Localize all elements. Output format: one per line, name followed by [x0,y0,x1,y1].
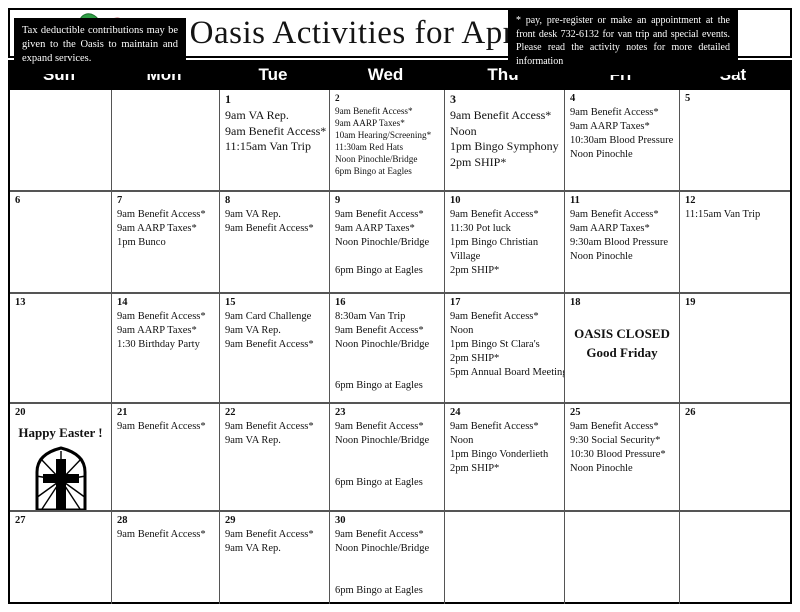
event-item: 11:30am Red Hats [335,142,439,154]
day-cell-5[interactable]: 5 [680,90,790,190]
day-cell-1[interactable]: 19am VA Rep.9am Benefit Access*11:15am V… [220,90,330,190]
day-number: 12 [685,195,785,207]
day-cell-empty [565,512,680,604]
event-item: 9am AARP Taxes* [117,324,214,338]
event-item: 9:30am Blood Pressure [570,236,674,250]
day-cell-13[interactable]: 13 [10,294,112,402]
day-number: 3 [450,93,559,107]
tax-deductible-note: Tax deductible contributions may be give… [14,18,186,74]
event-item: Noon Pinochle [570,148,674,162]
event-item: 11:15am Van Trip [225,139,324,155]
event-item: Noon [450,324,559,338]
cross-window-icon [32,446,90,510]
event-item: 8:30am Van Trip [335,310,439,324]
day-cell-21[interactable]: 219am Benefit Access* [112,404,220,510]
event-item: 9am Benefit Access* [117,420,214,434]
event-item: 9am VA Rep. [225,324,324,338]
event-item: 9am Benefit Access* [335,208,439,222]
event-item: 1pm Bingo St Clara's [450,338,559,352]
day-cell-2[interactable]: 29am Benefit Access*9am AARP Taxes*10am … [330,90,445,190]
day-number: 21 [117,407,214,419]
event-item: Noon Pinochle/Bridge [335,338,439,352]
day-cell-empty [10,90,112,190]
day-number: 5 [685,93,785,105]
event-item: 9am Benefit Access* [335,528,439,542]
event-item: 9am AARP Taxes* [117,222,214,236]
event-item: Noon Pinochle/Bridge [335,236,439,250]
day-number: 22 [225,407,324,419]
event-item: 9am VA Rep. [225,208,324,222]
day-number: 16 [335,297,439,309]
event-item: 9am Card Challenge [225,310,324,324]
event-item: 2pm SHIP* [450,155,559,171]
closure-notice-line: Good Friday [570,344,674,363]
event-item: 1pm Bingo Symphony [450,139,559,155]
event-item: 9am Benefit Access* [335,420,439,434]
day-cell-25[interactable]: 259am Benefit Access*9:30 Social Securit… [565,404,680,510]
day-cell-26[interactable]: 26 [680,404,790,510]
event-item: 1pm Bunco [117,236,214,250]
day-cell-10[interactable]: 109am Benefit Access*11:30 Pot luck1pm B… [445,192,565,292]
event-item: 9am Benefit Access* [225,338,324,352]
day-number: 1 [225,93,324,107]
day-number: 2 [335,93,439,105]
day-cell-30[interactable]: 309am Benefit Access*Noon Pinochle/Bridg… [330,512,445,604]
day-number: 30 [335,515,439,527]
event-item: 9am Benefit Access* [117,528,214,542]
event-item: 9am AARP Taxes* [570,222,674,236]
weekday-label-wed: Wed [328,60,443,90]
event-item: Noon Pinochle/Bridge [335,542,439,556]
event-item: 9am Benefit Access* [450,420,559,434]
day-number: 26 [685,407,785,419]
calendar-week-row: 679am Benefit Access*9am AARP Taxes*1pm … [10,192,790,294]
event-item: 9am Benefit Access* [225,124,324,140]
event-item: 6pm Bingo at Eagles [335,379,439,393]
closure-notice-line: OASIS CLOSED [570,325,674,344]
day-cell-23[interactable]: 239am Benefit Access*Noon Pinochle/Bridg… [330,404,445,510]
event-item: 2pm SHIP* [450,462,559,476]
day-cell-11[interactable]: 119am Benefit Access*9am AARP Taxes*9:30… [565,192,680,292]
closure-notice: OASIS CLOSEDGood Friday [570,325,674,363]
calendar-week-row: 20Happy Easter !219am Benefit Access*229… [10,404,790,512]
day-number: 10 [450,195,559,207]
event-item: Noon [450,434,559,448]
asterisk-footnote-note: * pay, pre-register or make an appointme… [508,8,738,75]
day-number: 14 [117,297,214,309]
event-item: Noon Pinochle [570,462,674,476]
event-item: 9am Benefit Access* [117,208,214,222]
event-item: 10am Hearing/Screening* [335,130,439,142]
event-item: 11:30 Pot luck [450,222,559,236]
day-number: 4 [570,93,674,105]
day-cell-9[interactable]: 99am Benefit Access*9am AARP Taxes*Noon … [330,192,445,292]
happy-easter-label: Happy Easter ! [15,425,106,441]
event-item: 1:30 Birthday Party [117,338,214,352]
day-number: 6 [15,195,106,207]
day-number: 25 [570,407,674,419]
event-item: 9am Benefit Access* [335,324,439,338]
calendar-week-row: 27289am Benefit Access*299am Benefit Acc… [10,512,790,604]
day-cell-12[interactable]: 1211:15am Van Trip [680,192,790,292]
event-item: 10:30 Blood Pressure* [570,448,674,462]
event-item: 9am AARP Taxes* [570,120,674,134]
event-item: 2pm SHIP* [450,352,559,366]
event-item: 9:30 Social Security* [570,434,674,448]
day-number: 27 [15,515,106,527]
day-cell-6[interactable]: 6 [10,192,112,292]
event-item: 9am Benefit Access* [225,222,324,236]
day-cell-8[interactable]: 89am VA Rep.9am Benefit Access* [220,192,330,292]
event-item: 1pm Bingo Vonderlieth [450,448,559,462]
day-number: 15 [225,297,324,309]
day-cell-28[interactable]: 289am Benefit Access* [112,512,220,604]
event-item: 9am VA Rep. [225,434,324,448]
event-item: 9am Benefit Access* [450,108,559,124]
event-item: 9am Benefit Access* [450,208,559,222]
event-item: 2pm SHIP* [450,264,559,278]
event-item: 9am Benefit Access* [225,420,324,434]
day-number: 29 [225,515,324,527]
event-item: 6pm Bingo at Eagles [335,166,439,178]
day-cell-7[interactable]: 79am Benefit Access*9am AARP Taxes*1pm B… [112,192,220,292]
day-cell-27[interactable]: 27 [10,512,112,604]
event-item: 5pm Annual Board Meeting [450,366,559,380]
day-number: 7 [117,195,214,207]
day-number: 8 [225,195,324,207]
day-cell-29[interactable]: 299am Benefit Access*9am VA Rep. [220,512,330,604]
day-cell-17[interactable]: 179am Benefit Access*Noon1pm Bingo St Cl… [445,294,565,402]
event-item: 9am AARP Taxes* [335,222,439,236]
day-number: 17 [450,297,559,309]
day-cell-16[interactable]: 168:30am Van Trip9am Benefit Access*Noon… [330,294,445,402]
day-number: 28 [117,515,214,527]
day-number: 11 [570,195,674,207]
day-cell-empty [445,512,565,604]
event-item: Noon Pinochle/Bridge [335,154,439,166]
day-cell-20[interactable]: 20Happy Easter ! [10,404,112,510]
weekday-label-tue: Tue [218,60,328,90]
day-number: 24 [450,407,559,419]
event-item: 9am Benefit Access* [335,106,439,118]
event-item: 9am Benefit Access* [225,528,324,542]
day-cell-24[interactable]: 249am Benefit Access*Noon1pm Bingo Vonde… [445,404,565,510]
event-item: 9am Benefit Access* [570,208,674,222]
event-item: Noon Pinochle/Bridge [335,434,439,448]
day-cell-empty [680,512,790,604]
day-number: 18 [570,297,674,309]
calendar-week-row: 19am VA Rep.9am Benefit Access*11:15am V… [10,90,790,192]
day-cell-4[interactable]: 49am Benefit Access*9am AARP Taxes*10:30… [565,90,680,190]
event-item: 9am VA Rep. [225,542,324,556]
day-cell-19[interactable]: 19 [680,294,790,402]
day-cell-14[interactable]: 149am Benefit Access*9am AARP Taxes*1:30… [112,294,220,402]
event-item: Village [450,250,559,264]
event-item: 10:30am Blood Pressure [570,134,674,148]
calendar-page: Oasis Activities for April 2014 SunMonTu… [0,0,800,612]
day-number: 23 [335,407,439,419]
event-item: 9am VA Rep. [225,108,324,124]
event-item: 6pm Bingo at Eagles [335,264,439,278]
day-number: 13 [15,297,106,309]
event-item: 6pm Bingo at Eagles [335,476,439,490]
day-number: 20 [15,407,106,419]
event-item: Noon [450,124,559,140]
event-item: 9am Benefit Access* [450,310,559,324]
calendar-week-row: 13149am Benefit Access*9am AARP Taxes*1:… [10,294,790,404]
event-item: Noon Pinochle [570,250,674,264]
day-cell-18[interactable]: 18OASIS CLOSEDGood Friday [565,294,680,402]
day-cell-empty [112,90,220,190]
day-cell-3[interactable]: 39am Benefit Access*Noon1pm Bingo Sympho… [445,90,565,190]
event-item: 9am Benefit Access* [117,310,214,324]
day-number: 19 [685,297,785,309]
day-cell-15[interactable]: 159am Card Challenge9am VA Rep.9am Benef… [220,294,330,402]
day-cell-22[interactable]: 229am Benefit Access*9am VA Rep. [220,404,330,510]
event-item: 6pm Bingo at Eagles [335,584,439,598]
event-item: 11:15am Van Trip [685,208,785,222]
event-item: 9am Benefit Access* [570,106,674,120]
event-item: 9am Benefit Access* [570,420,674,434]
day-number: 9 [335,195,439,207]
event-item: 9am AARP Taxes* [335,118,439,130]
calendar-grid: 19am VA Rep.9am Benefit Access*11:15am V… [8,90,792,604]
event-item: 1pm Bingo Christian [450,236,559,250]
